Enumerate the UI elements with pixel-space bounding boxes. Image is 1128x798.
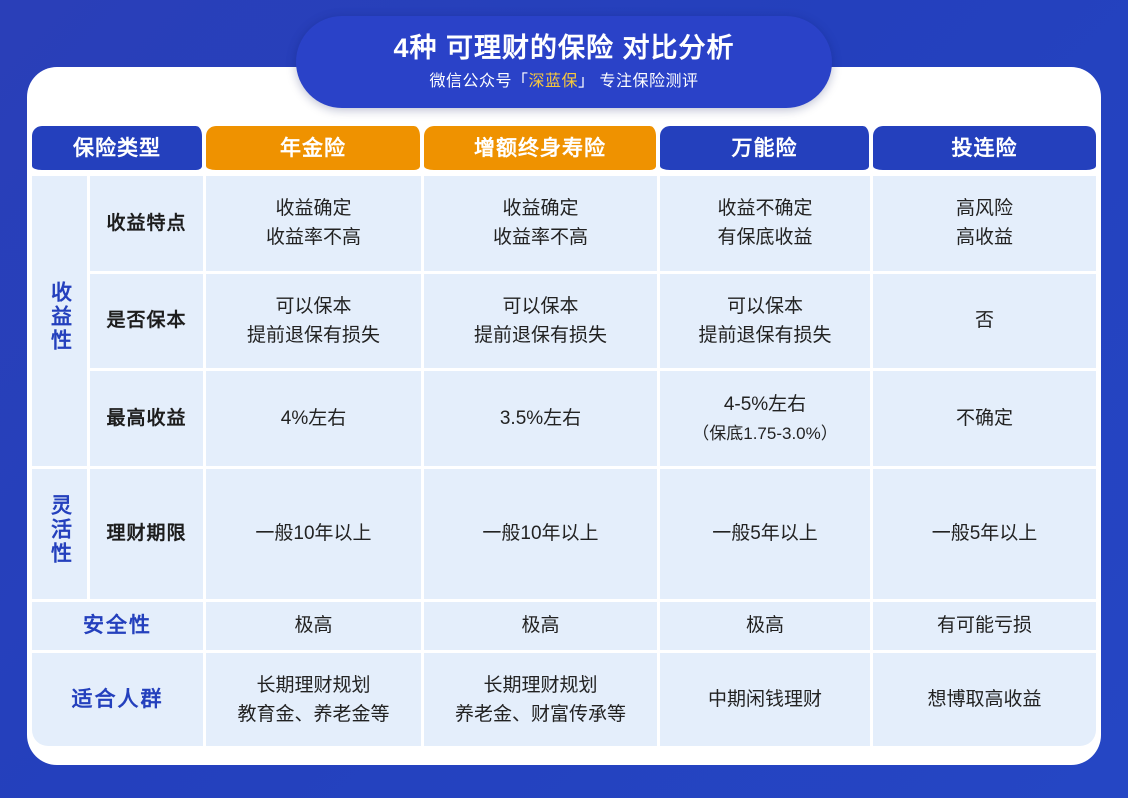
cell-line2: 收益率不高 (493, 227, 588, 248)
row-label-2: 最高收益 (90, 371, 206, 469)
page-title: 4种 可理财的保险 对比分析 (393, 31, 734, 65)
cell-line2: 提前退保有损失 (698, 325, 831, 346)
table-row: 安全性 极高 极高 极高 有可能亏损 (32, 602, 1096, 653)
cell-line2: 提前退保有损失 (247, 325, 380, 346)
cell-r2-c1: 3.5%左右 (424, 371, 660, 469)
cell-line1: 收益确定 (502, 198, 578, 219)
cell-line1: 高风险 (956, 198, 1013, 219)
row-label-1: 是否保本 (90, 274, 206, 372)
cell-r0-c3: 高风险 高收益 (873, 176, 1096, 274)
cell-r4-c2: 极高 (660, 602, 873, 653)
cell-line1: 3.5%左右 (500, 408, 581, 429)
cell-line2: 教育金、养老金等 (237, 704, 389, 725)
group-label-profitability: 收益性 (32, 176, 90, 469)
comparison-table: 保险类型 年金险 增额终身寿险 万能险 投连险 收益性 收益特点 收益确定 收益… (32, 126, 1096, 746)
cell-line1: 一般5年以上 (712, 523, 818, 544)
table-row: 适合人群 长期理财规划 教育金、养老金等 长期理财规划 养老金、财富传承等 中期… (32, 653, 1096, 746)
cell-r0-c2: 收益不确定 有保底收益 (660, 176, 873, 274)
cell-line1: 有可能亏损 (937, 615, 1032, 636)
row-label-0: 收益特点 (90, 176, 206, 274)
row-label-audience: 适合人群 (32, 653, 206, 746)
cell-line2: 养老金、财富传承等 (455, 704, 626, 725)
cell-r5-c2: 中期闲钱理财 (660, 653, 873, 746)
table-header-cell-0: 保险类型 (32, 126, 206, 176)
group-label-text: 灵活性 (48, 494, 70, 566)
subtitle-brand: 深蓝保 (529, 73, 579, 90)
cell-r1-c3: 否 (873, 274, 1096, 372)
cell-line1: 收益确定 (275, 198, 351, 219)
cell-line1: 可以保本 (275, 296, 351, 317)
cell-line2: 高收益 (956, 227, 1013, 248)
table-header-row: 保险类型 年金险 增额终身寿险 万能险 投连险 (32, 126, 1096, 176)
cell-line1: 一般10年以上 (482, 523, 598, 544)
cell-r3-c2: 一般5年以上 (660, 469, 873, 602)
subtitle-suffix: 」 专注保险测评 (578, 73, 698, 90)
cell-r2-c3: 不确定 (873, 371, 1096, 469)
table-row: 灵活性 理财期限 一般10年以上 一般10年以上 一般5年以上 一般5年以上 (32, 469, 1096, 602)
group-label-text: 收益性 (48, 281, 70, 353)
cell-r4-c3: 有可能亏损 (873, 602, 1096, 653)
cell-line1: 极高 (746, 615, 784, 636)
cell-line1: 可以保本 (727, 296, 803, 317)
cell-line1: 长期理财规划 (483, 675, 597, 696)
cell-r1-c0: 可以保本 提前退保有损失 (206, 274, 424, 372)
cell-r4-c0: 极高 (206, 602, 424, 653)
table-header-cell-4: 投连险 (873, 126, 1096, 176)
table-header-cell-3: 万能险 (660, 126, 873, 176)
cell-line1: 4-5%左右 (724, 394, 806, 415)
cell-r2-c2: 4-5%左右 （保底1.75-3.0%） (660, 371, 873, 469)
cell-r0-c0: 收益确定 收益率不高 (206, 176, 424, 274)
table-header-cell-2: 增额终身寿险 (424, 126, 660, 176)
cell-line1: 长期理财规划 (256, 675, 370, 696)
cell-line2: 收益率不高 (266, 227, 361, 248)
cell-r5-c1: 长期理财规划 养老金、财富传承等 (424, 653, 660, 746)
row-label-safety: 安全性 (32, 602, 206, 653)
table-row: 是否保本 可以保本 提前退保有损失 可以保本 提前退保有损失 可以保本 提前退保… (32, 274, 1096, 372)
cell-r3-c1: 一般10年以上 (424, 469, 660, 602)
cell-line1: 极高 (521, 615, 559, 636)
cell-line2: （保底1.75-3.0%） (660, 419, 870, 448)
cell-r5-c0: 长期理财规划 教育金、养老金等 (206, 653, 424, 746)
cell-line2: 提前退保有损失 (474, 325, 607, 346)
title-banner: 4种 可理财的保险 对比分析 微信公众号「深蓝保」 专注保险测评 (296, 16, 832, 108)
cell-r2-c0: 4%左右 (206, 371, 424, 469)
cell-line1: 4%左右 (281, 408, 346, 429)
table-header-cell-1: 年金险 (206, 126, 424, 176)
group-label-flexibility: 灵活性 (32, 469, 90, 602)
cell-r1-c1: 可以保本 提前退保有损失 (424, 274, 660, 372)
cell-line1: 一般10年以上 (255, 523, 371, 544)
cell-line1: 极高 (294, 615, 332, 636)
table-row: 收益性 收益特点 收益确定 收益率不高 收益确定 收益率不高 收益不确定 有保底… (32, 176, 1096, 274)
cell-line1: 不确定 (956, 408, 1013, 429)
cell-line1: 收益不确定 (717, 198, 812, 219)
cell-r4-c1: 极高 (424, 602, 660, 653)
cell-line1: 否 (975, 310, 994, 331)
subtitle-prefix: 微信公众号「 (430, 73, 529, 90)
table-row: 最高收益 4%左右 3.5%左右 4-5%左右 （保底1.75-3.0%） 不确… (32, 371, 1096, 469)
comparison-table-container: 保险类型 年金险 增额终身寿险 万能险 投连险 收益性 收益特点 收益确定 收益… (32, 126, 1096, 746)
cell-r0-c1: 收益确定 收益率不高 (424, 176, 660, 274)
cell-line1: 想博取高收益 (927, 689, 1041, 710)
cell-line2: 有保底收益 (717, 227, 812, 248)
cell-line1: 中期闲钱理财 (708, 689, 822, 710)
cell-line1: 一般5年以上 (932, 523, 1038, 544)
cell-r3-c0: 一般10年以上 (206, 469, 424, 602)
cell-r3-c3: 一般5年以上 (873, 469, 1096, 602)
cell-r5-c3: 想博取高收益 (873, 653, 1096, 746)
page-subtitle: 微信公众号「深蓝保」 专注保险测评 (430, 69, 699, 95)
cell-line1: 可以保本 (502, 296, 578, 317)
cell-r1-c2: 可以保本 提前退保有损失 (660, 274, 873, 372)
row-label-3: 理财期限 (90, 469, 206, 602)
